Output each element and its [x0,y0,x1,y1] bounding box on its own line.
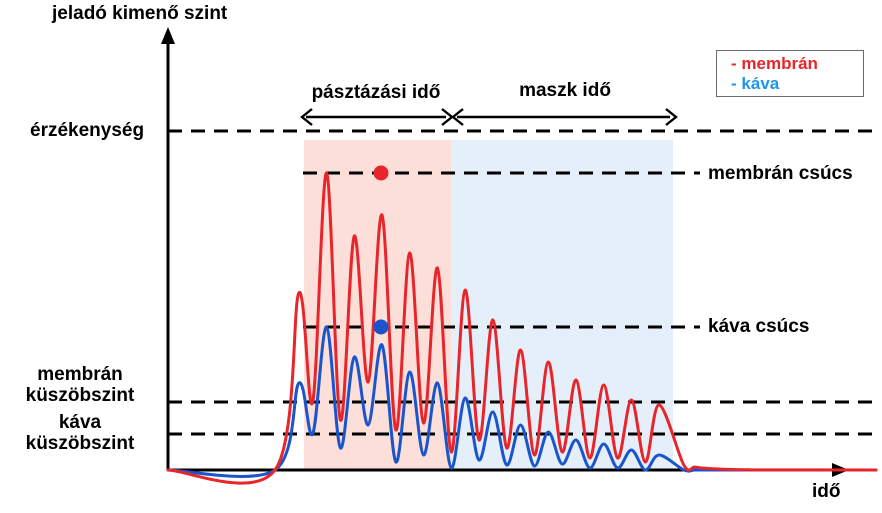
legend-label-membrane: membrán [741,54,818,73]
mask-time-region [451,140,673,470]
coffee-peak-label: káva csúcs [708,316,809,337]
mask-time-label: maszk idő [470,80,660,101]
membrane-peak-label: membrán csúcs [708,163,853,184]
x-axis-title: idő [812,481,841,502]
scan-time-arrow [302,109,452,125]
y-axis-title: jeladó kimenő szint [52,3,227,24]
membrane-threshold-label: membrán küszöbszint [0,364,160,407]
coffee-threshold-label: káva küszöbszint [0,412,160,455]
mask-time-arrow [453,109,676,125]
coffee-threshold-line-1: káva [0,412,160,433]
legend-marker-membrane: - [731,54,737,73]
legend-marker-coffee: - [731,74,737,93]
sensitivity-label: érzékenység [30,120,144,141]
scan-time-label: pásztázási idő [300,82,452,103]
membrane-peak-marker [374,166,389,181]
legend-item-membrane: - membrán [731,54,863,74]
coffee-threshold-line-2: küszöbszint [0,433,160,454]
membrane-threshold-line-2: küszöbszint [0,385,160,406]
legend: - membrán - káva [716,50,864,97]
legend-label-coffee: káva [741,74,779,93]
coffee-peak-marker [374,320,389,335]
legend-item-coffee: - káva [731,74,863,94]
membrane-threshold-line-1: membrán [0,364,160,385]
signal-level-diagram: jeladó kimenő szint idő érzékenység memb… [0,0,882,513]
y-axis-arrowhead [161,27,175,44]
